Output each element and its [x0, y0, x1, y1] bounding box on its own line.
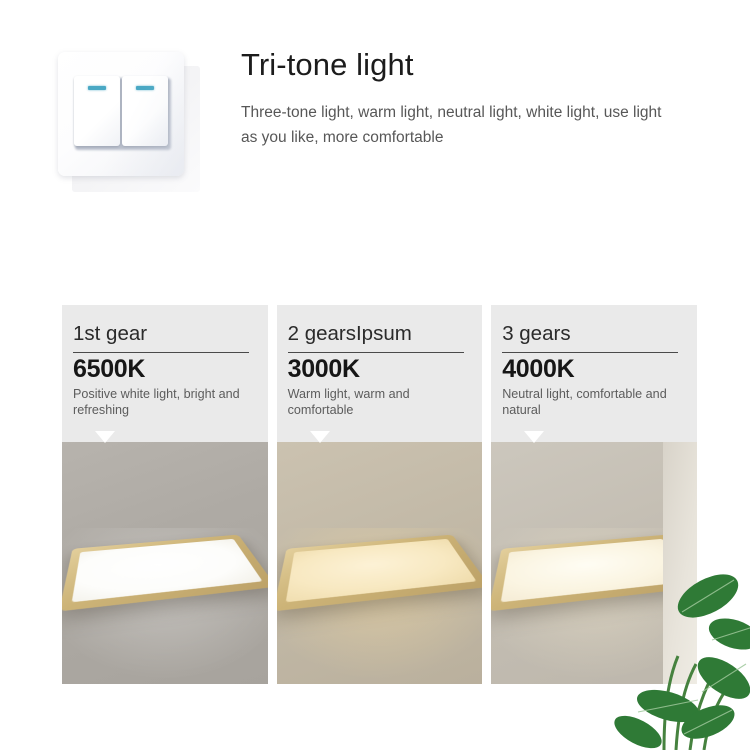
rocker-shadow	[75, 78, 171, 150]
ceiling-lamp-photo	[62, 442, 268, 684]
divider	[73, 352, 249, 353]
gear-description: Warm light, warm and comfortable	[288, 386, 471, 419]
gear-description: Positive white light, bright and refresh…	[73, 386, 256, 419]
caption-notch-icon	[95, 431, 115, 443]
ceiling-lamp	[277, 535, 483, 612]
led-indicator-icon	[88, 86, 106, 90]
divider	[288, 352, 464, 353]
kelvin-value: 4000K	[502, 356, 685, 383]
gear-label: 2 gearsIpsum	[288, 323, 471, 345]
hero-section: Tri-tone light Three-tone light, warm li…	[0, 0, 750, 260]
lamp-light-panel	[72, 539, 263, 602]
gear-panel: 1st gear 6500K Positive white light, bri…	[62, 305, 268, 684]
page-title: Tri-tone light	[241, 48, 711, 82]
kelvin-value: 6500K	[73, 356, 256, 383]
gear-panel: 3 gears 4000K Neutral light, comfortable…	[491, 305, 697, 684]
gear-label: 1st gear	[73, 323, 256, 345]
gear-panel: 2 gearsIpsum 3000K Warm light, warm and …	[277, 305, 483, 684]
ceiling-lamp-photo	[277, 442, 483, 684]
ceiling-lamp	[62, 535, 268, 612]
wall-switch-illustration	[58, 52, 208, 192]
divider	[502, 352, 678, 353]
gear-description: Neutral light, comfortable and natural	[502, 386, 685, 419]
lamp-frame	[277, 535, 483, 612]
gear-label: 3 gears	[502, 323, 685, 345]
switch-plate	[58, 52, 184, 176]
gear-panel-row: 1st gear 6500K Positive white light, bri…	[62, 305, 697, 684]
gear-caption: 1st gear 6500K Positive white light, bri…	[62, 305, 268, 442]
wall-corner	[663, 442, 697, 684]
ceiling-lamp-photo	[491, 442, 697, 684]
page-subtitle: Three-tone light, warm light, neutral li…	[241, 100, 671, 150]
caption-notch-icon	[524, 431, 544, 443]
headline-block: Tri-tone light Three-tone light, warm li…	[241, 48, 711, 150]
kelvin-value: 3000K	[288, 356, 471, 383]
caption-notch-icon	[310, 431, 330, 443]
gear-caption: 2 gearsIpsum 3000K Warm light, warm and …	[277, 305, 483, 442]
switch-rocker-left[interactable]	[74, 76, 120, 146]
lamp-light-panel	[286, 539, 477, 602]
switch-rocker-right[interactable]	[122, 76, 168, 146]
lamp-frame	[62, 535, 268, 612]
gear-caption: 3 gears 4000K Neutral light, comfortable…	[491, 305, 697, 442]
led-indicator-icon	[136, 86, 154, 90]
